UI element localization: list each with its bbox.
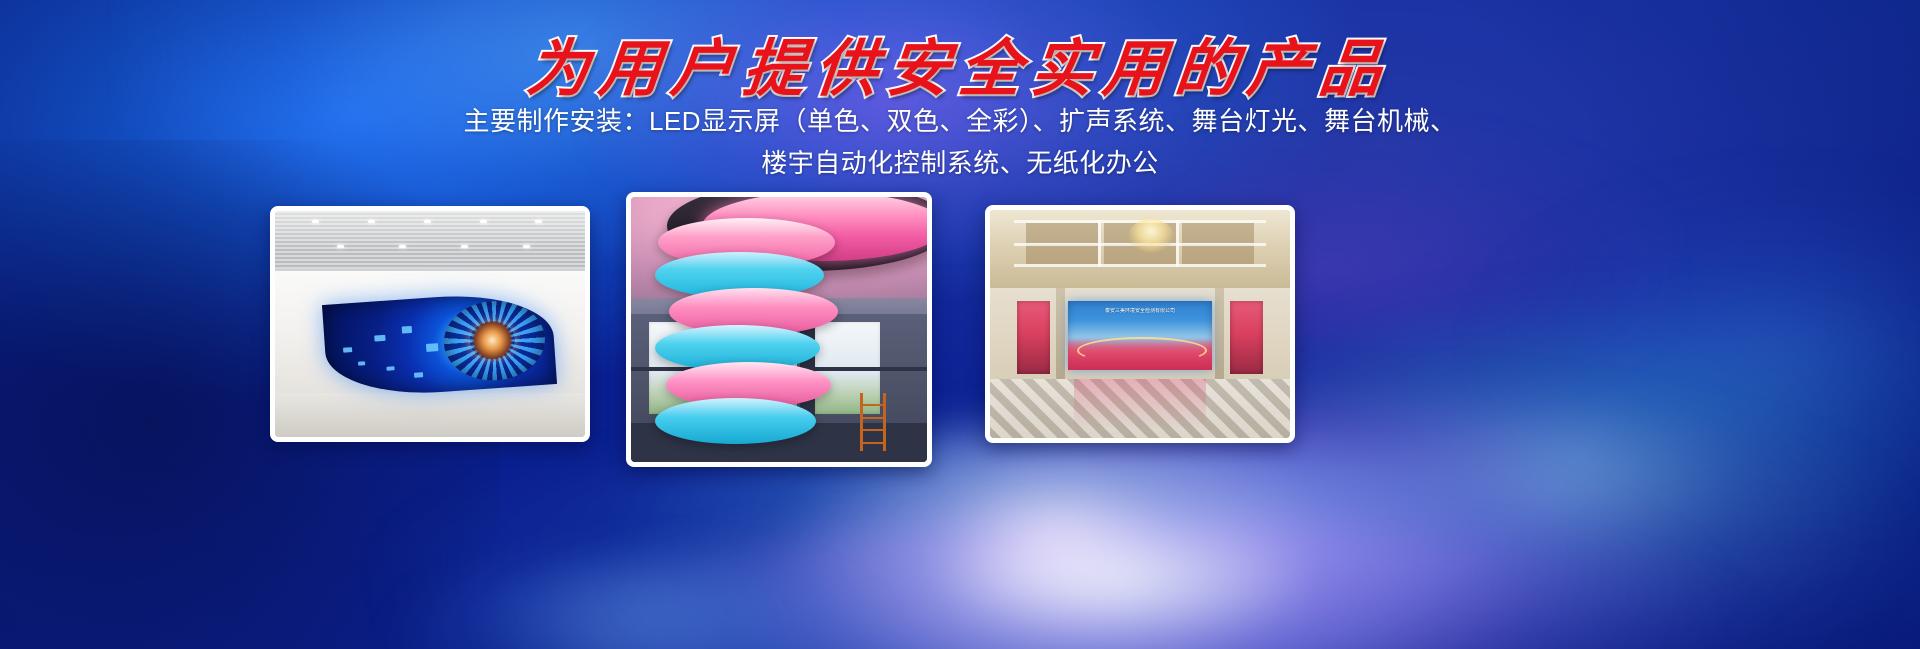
photo1-ceiling — [275, 211, 585, 271]
photo1-eye-screen — [322, 289, 557, 400]
photo3-side-panel-left — [1017, 301, 1050, 374]
subtitle-line-2: 楼宇自动化控制系统、无纸化办公 — [0, 142, 1920, 184]
photo-eye-shaped-led-display — [275, 211, 585, 437]
photo3-side-panel-right — [1230, 301, 1263, 374]
photo-conference-hall-led-screen: 泰安三美环境安全检测有限公司 — [990, 210, 1290, 438]
photo3-led-stage-screen: 泰安三美环境安全检测有限公司 — [1068, 301, 1212, 369]
gallery-item-eye-shaped-led-display[interactable] — [270, 206, 590, 442]
subtitle-line-1: 主要制作安装：LED显示屏（单色、双色、全彩）、扩声系统、舞台灯光、舞台机械、 — [0, 100, 1920, 142]
headline-container: 为用户提供安全实用的产品 — [0, 18, 1920, 108]
photo1-screen-pixels — [322, 289, 557, 400]
photo2-ladder — [860, 393, 886, 451]
photo3-pillar-left — [1056, 288, 1065, 384]
gallery-item-conference-hall-led-screen[interactable]: 泰安三美环境安全检测有限公司 — [985, 205, 1295, 443]
photo3-pillar-right — [1215, 288, 1224, 384]
subtitle-block: 主要制作安装：LED显示屏（单色、双色、全彩）、扩声系统、舞台灯光、舞台机械、 … — [0, 100, 1920, 184]
photo3-floor-reflection — [1074, 379, 1206, 438]
gallery-item-spiral-led-display[interactable] — [626, 192, 932, 467]
photo3-chandelier-glow — [1128, 219, 1174, 253]
page-title: 为用户提供安全实用的产品 — [523, 18, 1396, 108]
photo3-screen-arc — [1077, 337, 1208, 364]
photo-spiral-led-display — [631, 197, 927, 462]
photo3-chandelier — [1128, 219, 1174, 253]
photo2-spiral-screen — [655, 213, 839, 457]
photo1-floor — [275, 393, 585, 437]
photo3-screen-headline: 泰安三美环境安全检测有限公司 — [1080, 308, 1201, 315]
hero-banner: 为用户提供安全实用的产品 主要制作安装：LED显示屏（单色、双色、全彩）、扩声系… — [0, 0, 1920, 649]
